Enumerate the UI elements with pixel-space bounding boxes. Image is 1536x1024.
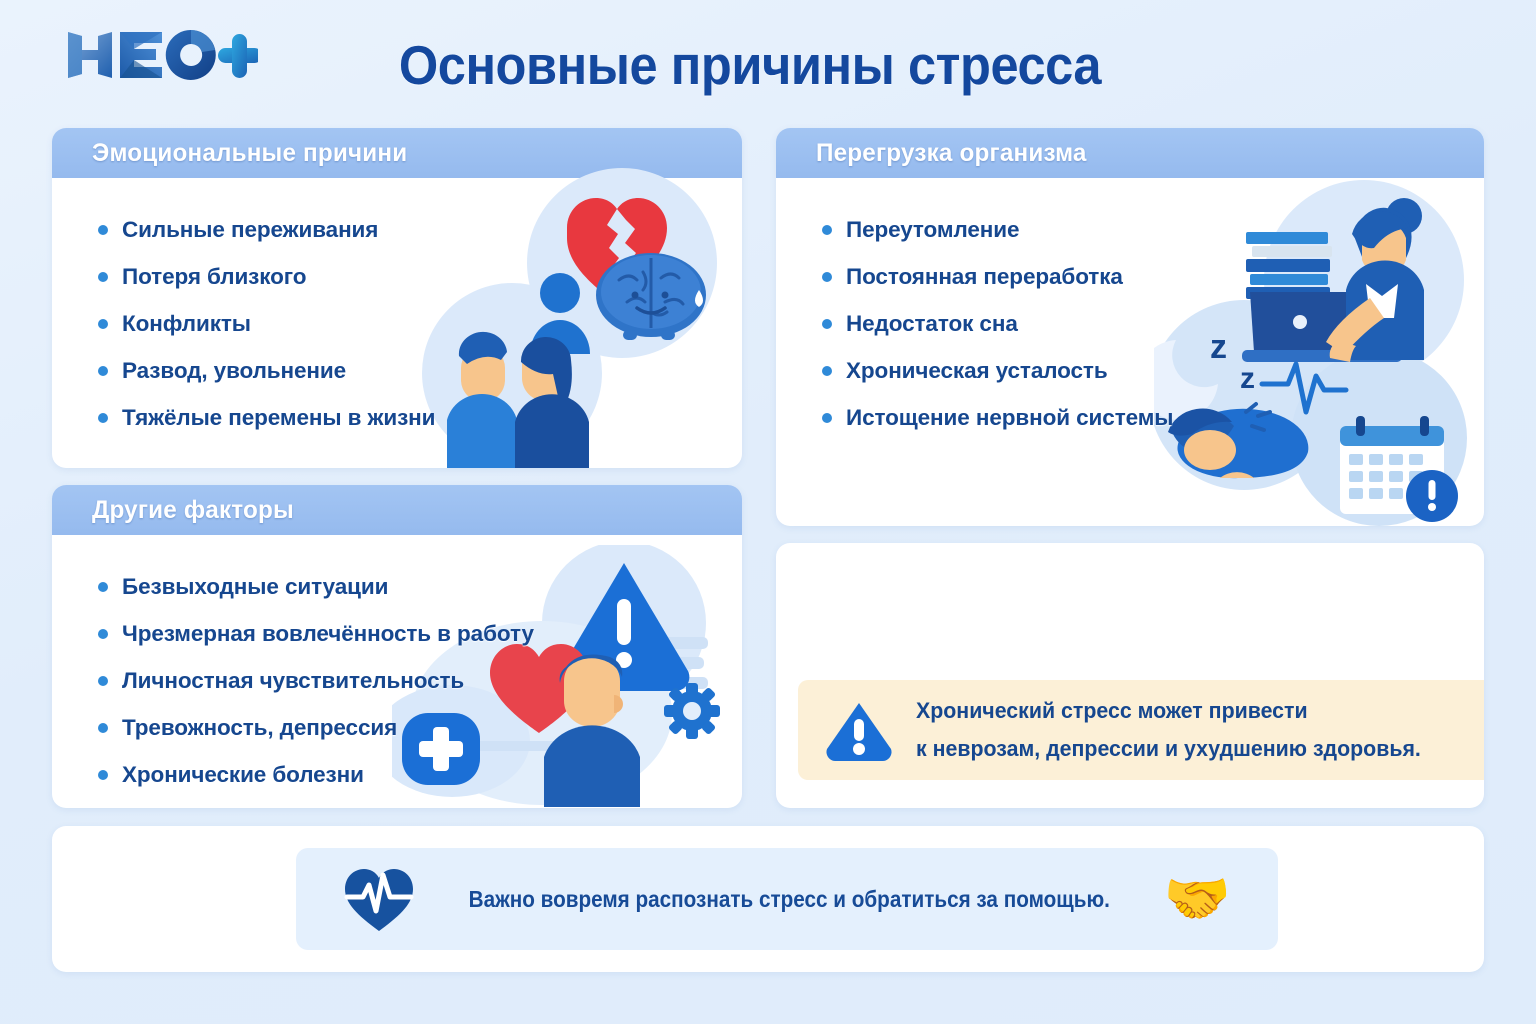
list-item: Истощение нервной системы bbox=[822, 394, 1484, 441]
bullet-dot bbox=[98, 676, 108, 686]
list-item-label: Хроническая усталость bbox=[846, 358, 1108, 384]
bullet-dot bbox=[98, 629, 108, 639]
list-item-label: Недостаток сна bbox=[846, 311, 1018, 337]
card-other-factors-body: Безвыходные ситуации Чрезмерная вовлечён… bbox=[52, 535, 742, 808]
list-item: Постоянная переработка bbox=[822, 253, 1484, 300]
warning-callout: Хронический стресс может привести к невр… bbox=[798, 680, 1484, 780]
card-other-factors-list: Безвыходные ситуации Чрезмерная вовлечён… bbox=[52, 535, 742, 798]
warning-triangle-icon bbox=[824, 699, 894, 761]
list-item-label: Тяжёлые перемены в жизни bbox=[122, 405, 435, 431]
bullet-dot bbox=[822, 413, 832, 423]
list-item-label: Сильные переживания bbox=[122, 217, 378, 243]
neo-plus-logo-icon bbox=[58, 22, 258, 88]
card-other-factors-title: Другие факторы bbox=[92, 496, 294, 525]
card-overload-title: Перегрузка организма bbox=[816, 139, 1087, 168]
list-item: Тревожность, депрессия bbox=[98, 704, 742, 751]
warning-text: Хронический стресс может привести к невр… bbox=[916, 692, 1421, 768]
infographic-page: HEO+ Основные причины стресса Эмоциональ… bbox=[0, 0, 1536, 1024]
footer-text: Важно вовремя распознать стресс и обрати… bbox=[469, 886, 1110, 913]
card-emotional: Эмоциональные причини bbox=[52, 128, 742, 468]
list-item: Тяжёлые перемены в жизни bbox=[98, 394, 742, 441]
brand-logo: HEO+ bbox=[58, 22, 258, 88]
list-item: Сильные переживания bbox=[98, 206, 742, 253]
list-item: Хронические болезни bbox=[98, 751, 742, 798]
card-warning: Хронический стресс может привести к невр… bbox=[776, 543, 1484, 808]
list-item: Переутомление bbox=[822, 206, 1484, 253]
handshake-emoji-icon: 🤝 bbox=[1164, 872, 1231, 926]
card-other-factors: Другие факторы bbox=[52, 485, 742, 808]
list-item-label: Развод, увольнение bbox=[122, 358, 346, 384]
bullet-dot bbox=[822, 366, 832, 376]
card-emotional-title: Эмоциональные причини bbox=[92, 139, 407, 168]
list-item: Конфликты bbox=[98, 300, 742, 347]
bullet-dot bbox=[98, 225, 108, 235]
card-emotional-body: Сильные переживания Потеря близкого Конф… bbox=[52, 178, 742, 468]
list-item: Развод, увольнение bbox=[98, 347, 742, 394]
list-item: Потеря близкого bbox=[98, 253, 742, 300]
bullet-dot bbox=[98, 366, 108, 376]
footer-banner: Важно вовремя распознать стресс и обрати… bbox=[296, 848, 1278, 950]
bullet-dot bbox=[822, 272, 832, 282]
list-item-label: Безвыходные ситуации bbox=[122, 574, 388, 600]
bullet-dot bbox=[98, 582, 108, 592]
bullet-dot bbox=[822, 225, 832, 235]
card-footer: Важно вовремя распознать стресс и обрати… bbox=[52, 826, 1484, 972]
list-item-label: Конфликты bbox=[122, 311, 251, 337]
card-emotional-header: Эмоциональные причини bbox=[52, 128, 742, 178]
list-item: Недостаток сна bbox=[822, 300, 1484, 347]
bullet-dot bbox=[98, 272, 108, 282]
list-item: Личностная чувствительность bbox=[98, 657, 742, 704]
bullet-dot bbox=[98, 413, 108, 423]
card-overload-body: z z bbox=[776, 178, 1484, 526]
card-other-factors-header: Другие факторы bbox=[52, 485, 742, 535]
list-item: Чрезмерная вовлечённость в работу bbox=[98, 610, 742, 657]
bullet-dot bbox=[822, 319, 832, 329]
list-item-label: Чрезмерная вовлечённость в работу bbox=[122, 621, 534, 647]
list-item-label: Переутомление bbox=[846, 217, 1019, 243]
card-overload: Перегрузка организма bbox=[776, 128, 1484, 526]
page-title: Основные причины стресса bbox=[387, 26, 1114, 104]
list-item: Безвыходные ситуации bbox=[98, 563, 742, 610]
list-item-label: Потеря близкого bbox=[122, 264, 306, 290]
card-emotional-list: Сильные переживания Потеря близкого Конф… bbox=[52, 178, 742, 441]
bullet-dot bbox=[98, 770, 108, 780]
card-overload-list: Переутомление Постоянная переработка Нед… bbox=[776, 178, 1484, 441]
list-item-label: Тревожность, депрессия bbox=[122, 715, 397, 741]
heart-pulse-icon bbox=[343, 865, 415, 933]
list-item: Хроническая усталость bbox=[822, 347, 1484, 394]
list-item-label: Личностная чувствительность bbox=[122, 668, 464, 694]
bullet-dot bbox=[98, 319, 108, 329]
list-item-label: Хронические болезни bbox=[122, 762, 364, 788]
warning-line-1: Хронический стресс может привести bbox=[916, 692, 1421, 730]
list-item-label: Постоянная переработка bbox=[846, 264, 1123, 290]
warning-line-2: к неврозам, депрессии и ухудшению здоров… bbox=[916, 730, 1421, 768]
bullet-dot bbox=[98, 723, 108, 733]
list-item-label: Истощение нервной системы bbox=[846, 405, 1173, 431]
card-overload-header: Перегрузка организма bbox=[776, 128, 1484, 178]
